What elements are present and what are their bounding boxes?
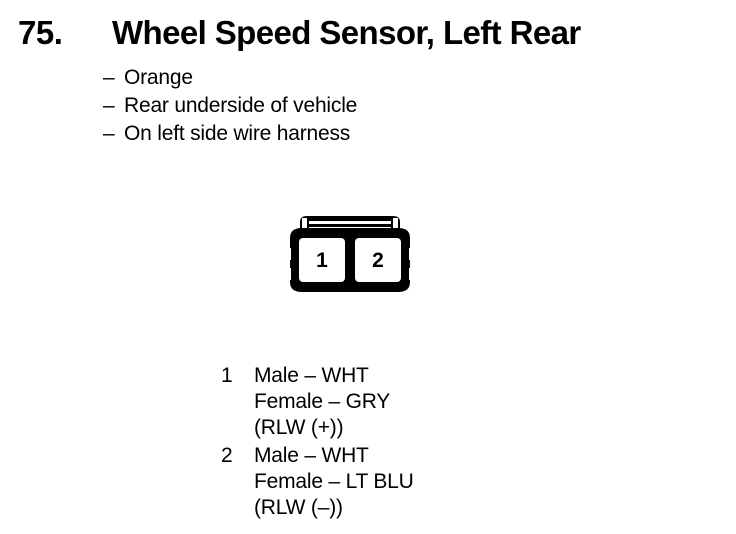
pin-line: Female – LT BLU — [254, 469, 414, 495]
pin-description: Male – WHT Female – GRY (RLW (+)) — [254, 363, 390, 441]
dash-icon: – — [103, 92, 124, 120]
connector-body — [282, 228, 418, 292]
connector-diagram: 1 2 — [282, 212, 418, 298]
entry-number: 75. — [18, 14, 112, 52]
page-title: Wheel Speed Sensor, Left Rear — [112, 14, 581, 52]
pin-number: 1 — [221, 363, 254, 389]
pin-line: Female – GRY — [254, 389, 390, 415]
list-item: – Rear underside of vehicle — [103, 92, 357, 120]
connector-latch-icon — [300, 216, 400, 230]
list-item: – On left side wire harness — [103, 120, 357, 148]
pin-line: (RLW (+)) — [254, 415, 390, 441]
pin-line: (RLW (–)) — [254, 495, 414, 521]
pin-legend: 1 Male – WHT Female – GRY (RLW (+)) 2 Ma… — [221, 363, 414, 523]
list-item: – Orange — [103, 64, 357, 92]
dash-icon: – — [103, 64, 124, 92]
pin-entry: 2 Male – WHT Female – LT BLU (RLW (–)) — [221, 443, 414, 521]
connector-illustration: 1 2 — [282, 212, 418, 298]
list-item-label: Orange — [124, 64, 193, 92]
pin-line: Male – WHT — [254, 363, 390, 389]
pin-entry: 1 Male – WHT Female – GRY (RLW (+)) — [221, 363, 414, 441]
list-item-label: Rear underside of vehicle — [124, 92, 357, 120]
connector-cavity-2-label: 2 — [372, 249, 384, 272]
pin-number: 2 — [221, 443, 254, 469]
dash-icon: – — [103, 120, 124, 148]
pin-description: Male – WHT Female – LT BLU (RLW (–)) — [254, 443, 414, 521]
pin-line: Male – WHT — [254, 443, 414, 469]
list-item-label: On left side wire harness — [124, 120, 350, 148]
connector-cavity-1-label: 1 — [316, 249, 328, 272]
detail-list: – Orange – Rear underside of vehicle – O… — [103, 64, 357, 148]
page-header: 75. Wheel Speed Sensor, Left Rear — [18, 14, 581, 52]
